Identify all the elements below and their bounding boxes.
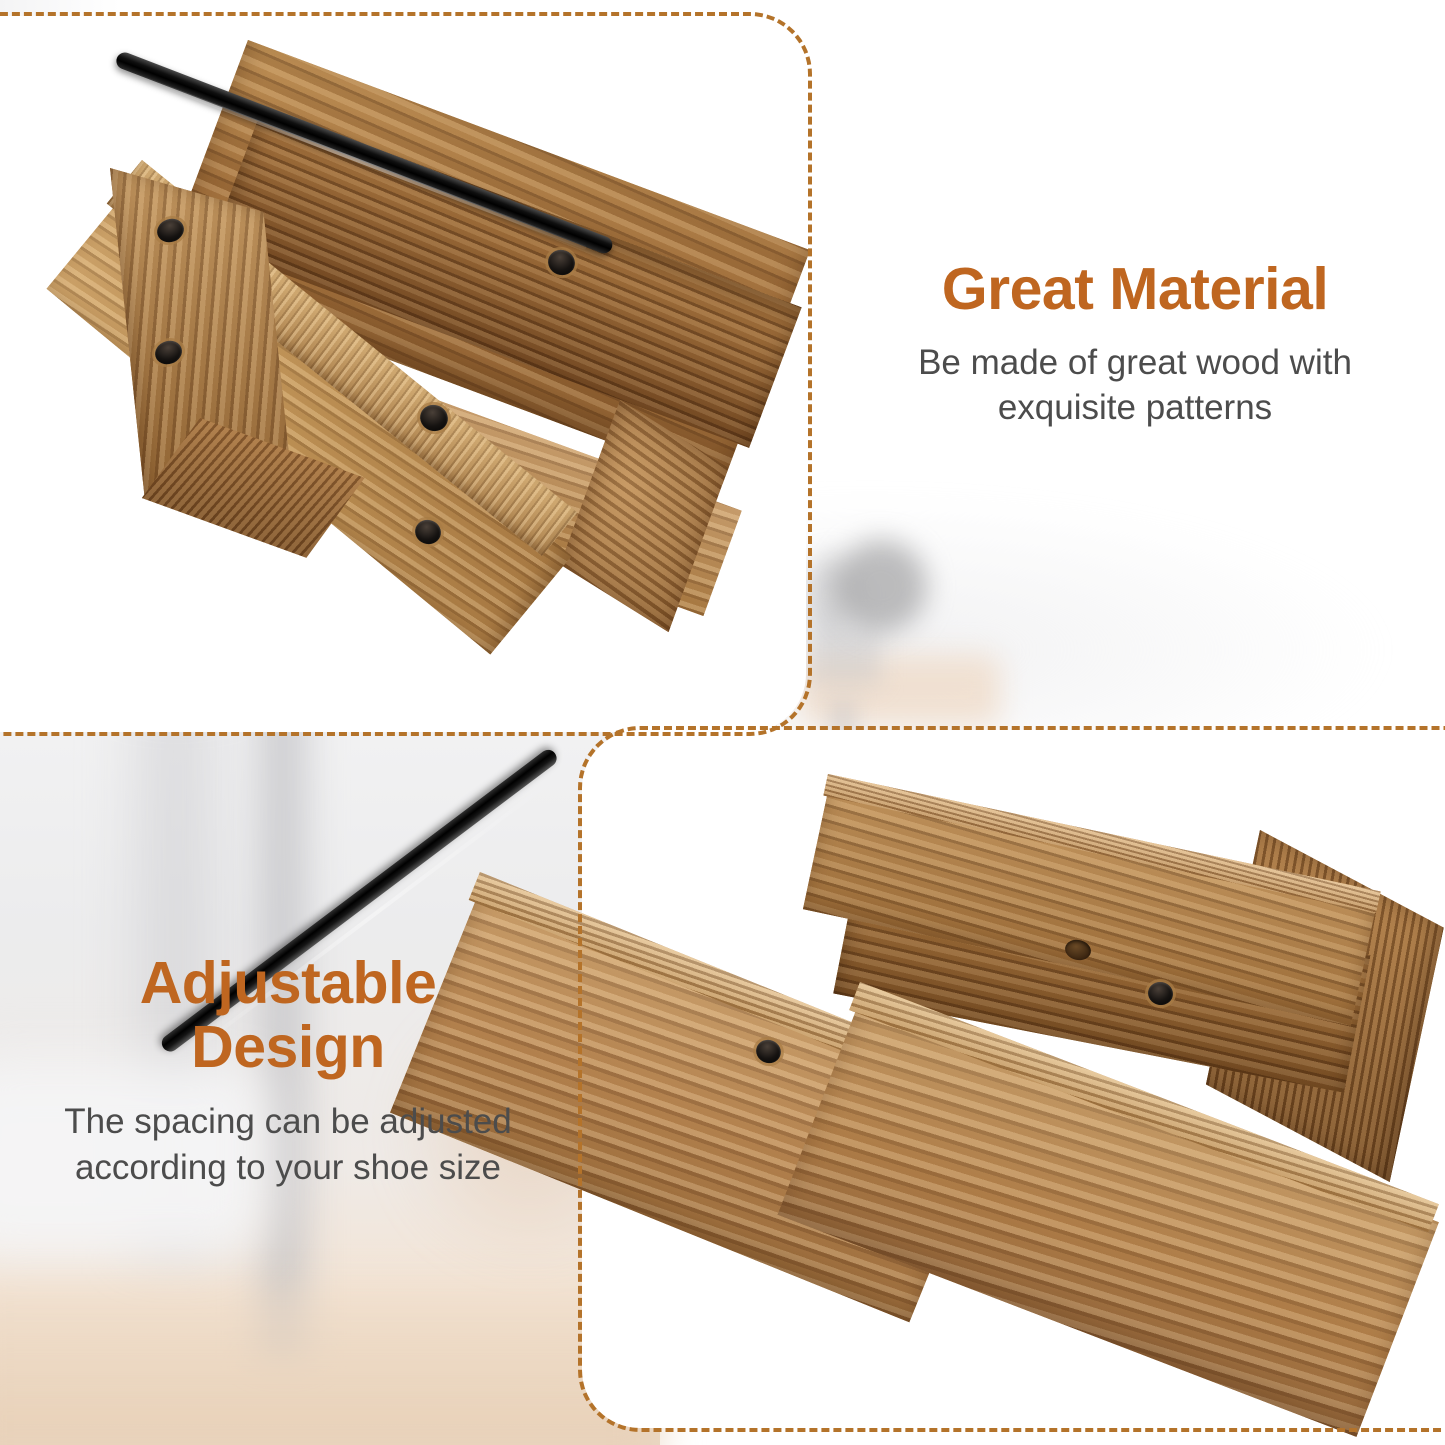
feature-heading-adjustable-design: Adjustable Design	[8, 952, 568, 1079]
subtitle-line-2: according to your shoe size	[75, 1148, 501, 1187]
infographic-canvas: Great Material Be made of great wood wit…	[0, 0, 1445, 1445]
feature-subtitle-adjustable-design: The spacing can be adjusted according to…	[8, 1099, 568, 1190]
heading-line-2: Design	[191, 1014, 385, 1080]
feature-heading-great-material: Great Material	[830, 258, 1440, 322]
feature-block-adjustable-design: Adjustable Design The spacing can be adj…	[8, 952, 568, 1190]
background-lamp-shade-blur	[835, 540, 927, 632]
heading-line-1: Adjustable	[140, 950, 437, 1016]
subtitle-line-1: Be made of great wood with	[918, 343, 1352, 382]
product-image-great-material	[120, 50, 820, 640]
feature-block-great-material: Great Material Be made of great wood wit…	[830, 258, 1440, 431]
subtitle-line-2: exquisite patterns	[998, 388, 1272, 427]
feature-subtitle-great-material: Be made of great wood with exquisite pat…	[830, 340, 1440, 431]
product-image-adjustable-design	[560, 760, 1445, 1445]
subtitle-line-1: The spacing can be adjusted	[64, 1102, 512, 1141]
background-lamp-base-blur	[810, 625, 880, 685]
